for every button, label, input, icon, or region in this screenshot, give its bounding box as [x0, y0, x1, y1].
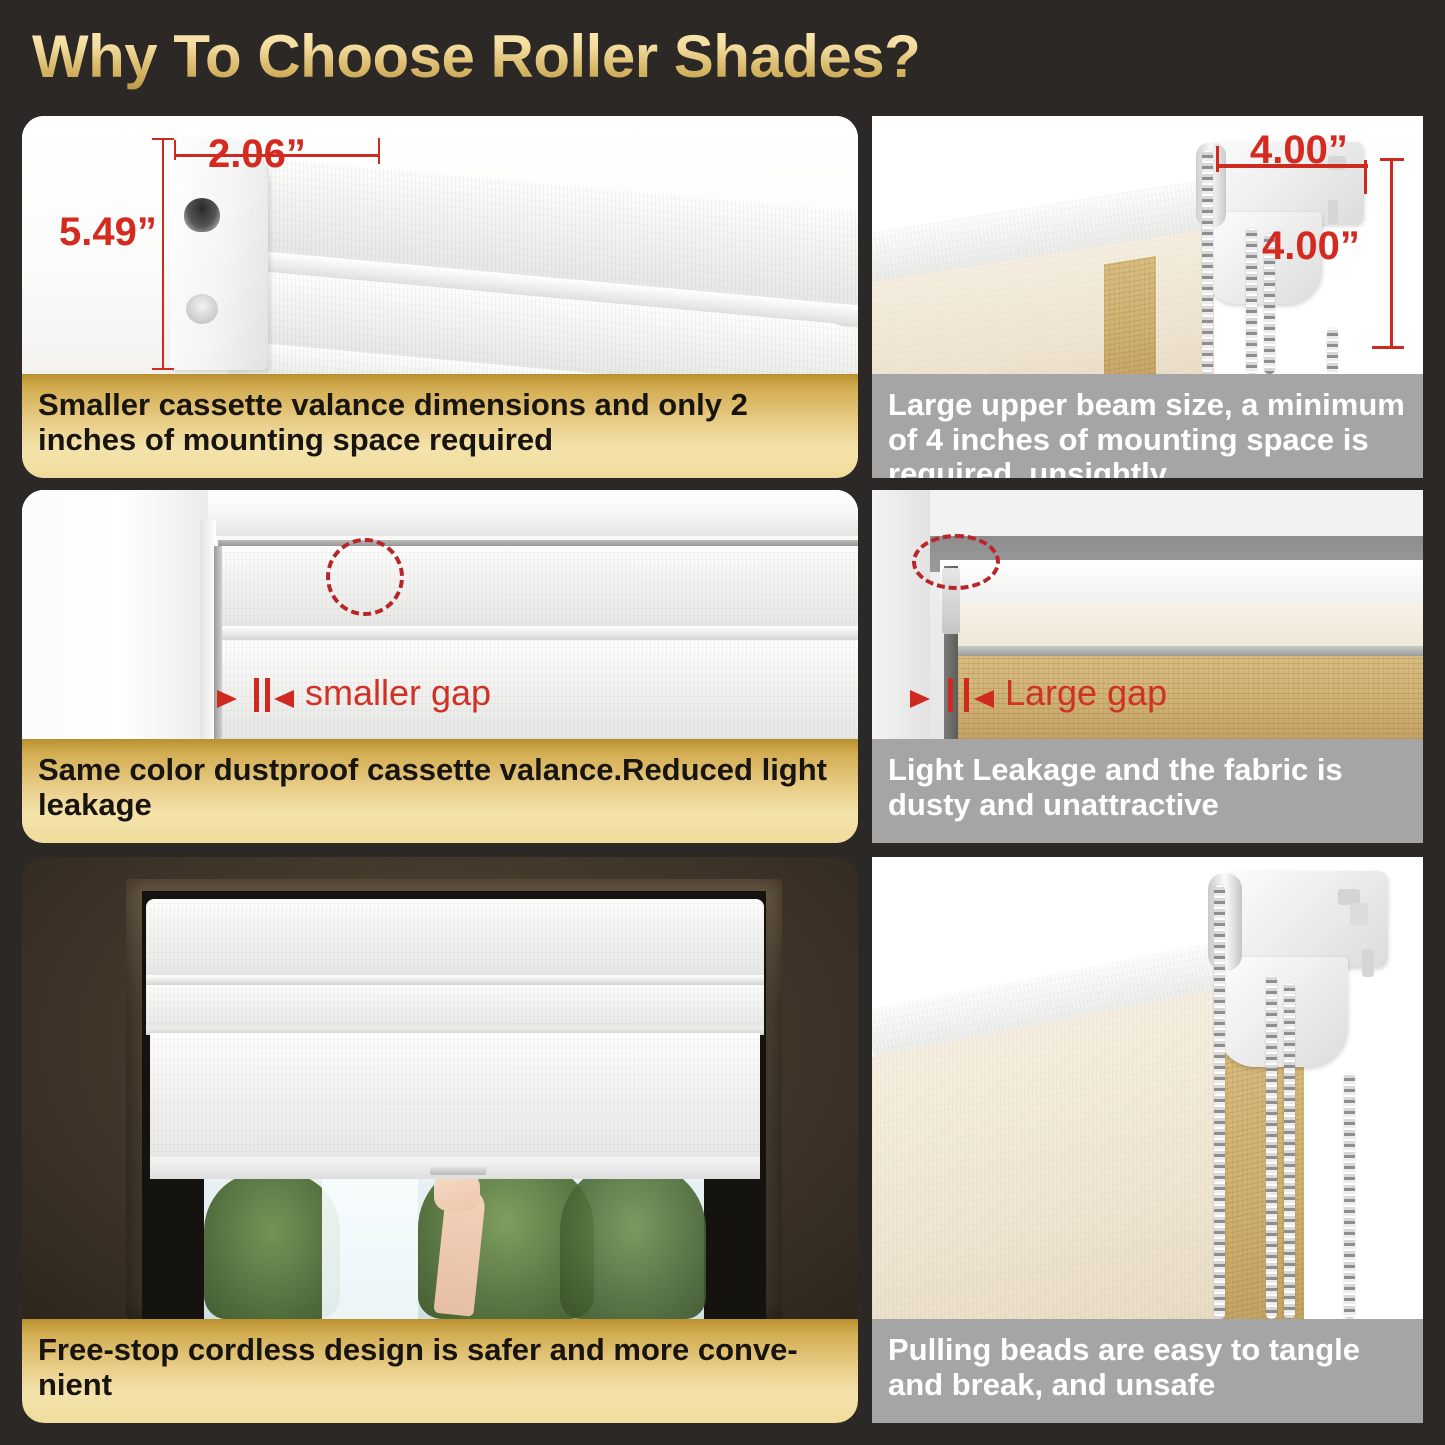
gap-arrow-right — [274, 690, 294, 708]
bracket-slot-2 — [1350, 903, 1368, 925]
bracket-slot-3 — [1362, 949, 1374, 977]
beam-lower-face — [958, 602, 1423, 648]
bead-chain-1[interactable] — [1214, 885, 1225, 1319]
tree-right — [560, 1165, 706, 1319]
shade-left-edge — [214, 546, 222, 739]
large-gap-label: Large gap — [1005, 672, 1167, 714]
window-frame-left — [22, 490, 208, 739]
end-cap-socket — [184, 198, 220, 232]
wall-upper — [872, 490, 1423, 536]
pulling-beads-photo — [872, 857, 1423, 1319]
gap-highlight-ellipse — [912, 534, 1000, 590]
height-dim-cap-top — [152, 138, 174, 140]
caption-text: Pulling beads are easy to tangle and bre… — [888, 1333, 1407, 1402]
caption-light-leakage: Light Leakage and the fabric is dusty an… — [872, 739, 1423, 843]
beam-width-cap-left — [1216, 146, 1219, 172]
beam-height-label: 4.00” — [1262, 224, 1360, 269]
panel-large-upper-beam: 4.00” 4.00” Large upper beam size, a min… — [872, 116, 1423, 478]
tree-left — [204, 1173, 340, 1319]
bead-chain-2[interactable] — [1266, 975, 1277, 1319]
cassette-valance-face — [218, 546, 858, 630]
caption-text: Large upper beam size, a minimum of 4 in… — [888, 388, 1407, 478]
beam-width-label: 4.00” — [1250, 128, 1348, 173]
cassette-lip — [218, 626, 858, 640]
gap-tick-2 — [265, 678, 270, 712]
caption-text: Free-stop cordless design is safer and m… — [38, 1333, 842, 1402]
gap-tick-1 — [948, 678, 953, 712]
beam-height-cap-top — [1380, 158, 1404, 161]
height-dim-cap-bottom — [152, 368, 174, 370]
height-dim-line — [162, 138, 164, 370]
bead-chain-3[interactable] — [1284, 983, 1295, 1319]
bracket-slot-2 — [1328, 200, 1338, 224]
width-dim-cap-right — [378, 138, 380, 164]
panel-cassette-dimensions: 5.49” 2.06” Smaller cassette valance dim… — [22, 116, 858, 478]
caption-text: Smaller cassette valance dimensions and … — [38, 388, 842, 457]
title-bar: Why To Choose Roller Shades? — [0, 0, 1445, 112]
beam-bottom-edge — [958, 646, 1423, 656]
height-dimension-label: 5.49” — [59, 210, 157, 255]
cassette-valance — [146, 899, 764, 981]
back-fabric-khaki — [1104, 256, 1156, 374]
beam-height-cap-bottom — [1372, 346, 1404, 349]
bead-chain-4[interactable] — [1344, 1073, 1355, 1319]
cordless-design-photo — [22, 857, 858, 1319]
caption-text: Same color dustproof cassette valance.Re… — [38, 753, 842, 822]
valance-roll — [146, 985, 764, 1031]
cassette-dimensions-photo: 5.49” 2.06” — [22, 116, 858, 374]
panel-cordless-design: Free-stop cordless design is safer and m… — [22, 857, 858, 1423]
caption-text: Light Leakage and the fabric is dusty an… — [888, 753, 1407, 822]
infographic-page: Why To Choose Roller Shades? 5.49” 2.06” — [0, 0, 1445, 1445]
gap-arrow-left — [217, 690, 237, 708]
panel-dustproof-valance: smaller gap Same color dustproof cassett… — [22, 490, 858, 843]
seam-highlight-circle — [326, 538, 404, 616]
beam-width-cap-right — [1364, 160, 1367, 194]
gap-tick-1 — [254, 678, 259, 712]
page-title: Why To Choose Roller Shades? — [32, 22, 920, 91]
bead-chain-2[interactable] — [1246, 228, 1257, 374]
smaller-gap-label: smaller gap — [305, 672, 491, 714]
bead-chain-4[interactable] — [1327, 328, 1338, 374]
bottom-rail-handle[interactable] — [430, 1167, 486, 1175]
width-dim-cap-left — [174, 140, 176, 160]
gap-arrow-right — [974, 690, 994, 708]
gap-tick-2 — [964, 678, 969, 712]
upper-beam-face — [940, 560, 1423, 604]
gap-arrow-left — [910, 690, 930, 708]
shade-fabric — [150, 1033, 760, 1173]
caption-large-upper-beam: Large upper beam size, a minimum of 4 in… — [872, 374, 1423, 478]
bead-chain-1[interactable] — [1202, 150, 1213, 374]
large-upper-beam-photo: 4.00” 4.00” — [872, 116, 1423, 374]
dustproof-valance-photo: smaller gap — [22, 490, 858, 739]
caption-dustproof-valance: Same color dustproof cassette valance.Re… — [22, 739, 858, 843]
end-cap-screw — [186, 294, 218, 324]
roller-bracket-lower — [1216, 957, 1348, 1067]
width-dimension-label: 2.06” — [208, 132, 306, 177]
panel-pulling-beads: Pulling beads are easy to tangle and bre… — [872, 857, 1423, 1423]
light-leakage-photo: Large gap — [872, 490, 1423, 739]
beam-height-line — [1390, 158, 1393, 348]
caption-cassette-dimensions: Smaller cassette valance dimensions and … — [22, 374, 858, 478]
caption-cordless-design: Free-stop cordless design is safer and m… — [22, 1319, 858, 1423]
caption-pulling-beads: Pulling beads are easy to tangle and bre… — [872, 1319, 1423, 1423]
panel-light-leakage: Large gap Light Leakage and the fabric i… — [872, 490, 1423, 843]
